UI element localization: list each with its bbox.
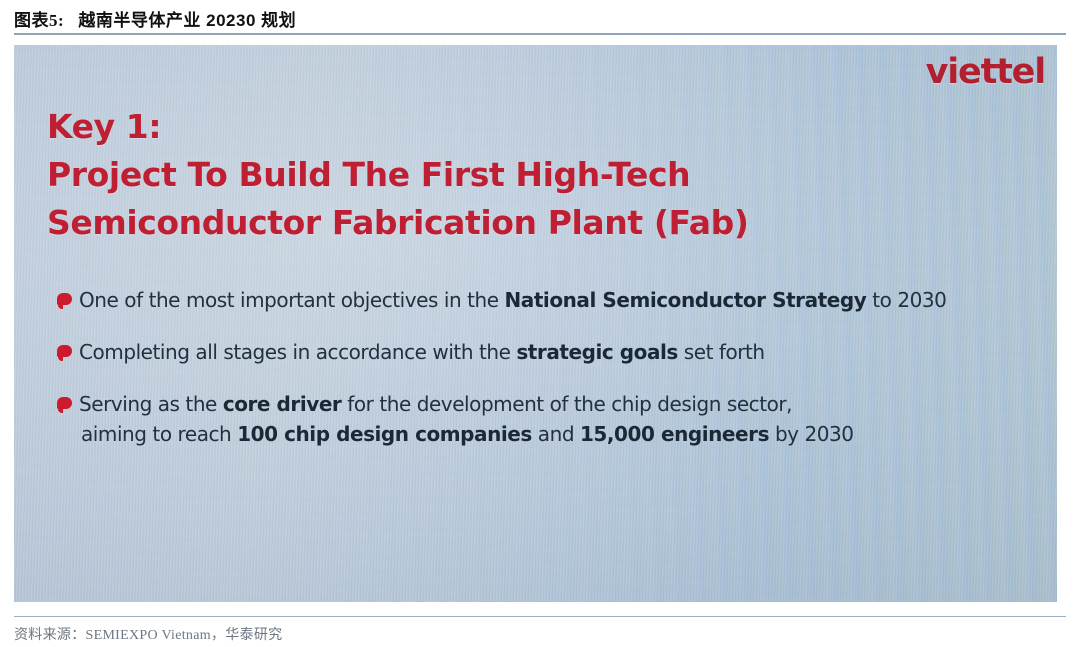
bullet-3-line2-post: by 2030 bbox=[769, 422, 854, 446]
viettel-logo: viettel bbox=[926, 52, 1045, 92]
bullet-3-line-2: aiming to reach 100 chip design companie… bbox=[79, 419, 1037, 449]
bullet-2-post: set forth bbox=[678, 340, 765, 364]
pennant-bullet-icon bbox=[57, 345, 72, 357]
list-item: One of the most important objectives in … bbox=[47, 285, 1037, 315]
headline-line-2: Project To Build The First High-Tech bbox=[47, 151, 749, 199]
bullet-list: One of the most important objectives in … bbox=[47, 285, 1037, 449]
bullet-3-bold: core driver bbox=[223, 392, 342, 416]
pennant-bullet-icon bbox=[57, 397, 72, 409]
bullet-3-line2-pre: aiming to reach bbox=[81, 422, 237, 446]
bullet-3-pre: Serving as the bbox=[79, 392, 223, 416]
figure-label: 图表5: bbox=[14, 11, 64, 30]
slide-headline: Key 1: Project To Build The First High-T… bbox=[47, 103, 749, 247]
title-divider bbox=[14, 33, 1066, 35]
bullet-3-line-1: Serving as the core driver for the devel… bbox=[79, 389, 1037, 419]
bullet-2-bold: strategic goals bbox=[516, 340, 678, 364]
figure-title-text: 越南半导体产业 20230 规划 bbox=[78, 11, 296, 30]
headline-line-1: Key 1: bbox=[47, 103, 749, 151]
bullet-3-line2-mid: and bbox=[532, 422, 580, 446]
bullet-1-bold: National Semiconductor Strategy bbox=[504, 288, 866, 312]
pennant-bullet-icon bbox=[57, 293, 72, 305]
list-item: Serving as the core driver for the devel… bbox=[47, 389, 1037, 449]
bullet-3-line2-bold-2: 15,000 engineers bbox=[580, 422, 769, 446]
list-item: Completing all stages in accordance with… bbox=[47, 337, 1037, 367]
bullet-text-2: Completing all stages in accordance with… bbox=[79, 340, 765, 364]
slide-image: viettel Key 1: Project To Build The Firs… bbox=[14, 45, 1057, 602]
bullet-3-line2-bold-1: 100 chip design companies bbox=[237, 422, 532, 446]
bullet-2-pre: Completing all stages in accordance with… bbox=[79, 340, 516, 364]
bullet-text-3: Serving as the core driver for the devel… bbox=[79, 389, 1037, 449]
bullet-1-post: to 2030 bbox=[866, 288, 946, 312]
bullet-3-post: for the development of the chip design s… bbox=[341, 392, 792, 416]
source-note: 资料来源：SEMIEXPO Vietnam，华泰研究 bbox=[14, 624, 282, 644]
bullet-1-pre: One of the most important objectives in … bbox=[79, 288, 504, 312]
bullet-text-1: One of the most important objectives in … bbox=[79, 288, 946, 312]
headline-line-3: Semiconductor Fabrication Plant (Fab) bbox=[47, 199, 749, 247]
footer-divider bbox=[14, 616, 1066, 617]
process-flow-diagram: FABLESS FAB APT bbox=[14, 515, 1057, 602]
figure-title: 图表5: 越南半导体产业 20230 规划 bbox=[14, 6, 296, 31]
